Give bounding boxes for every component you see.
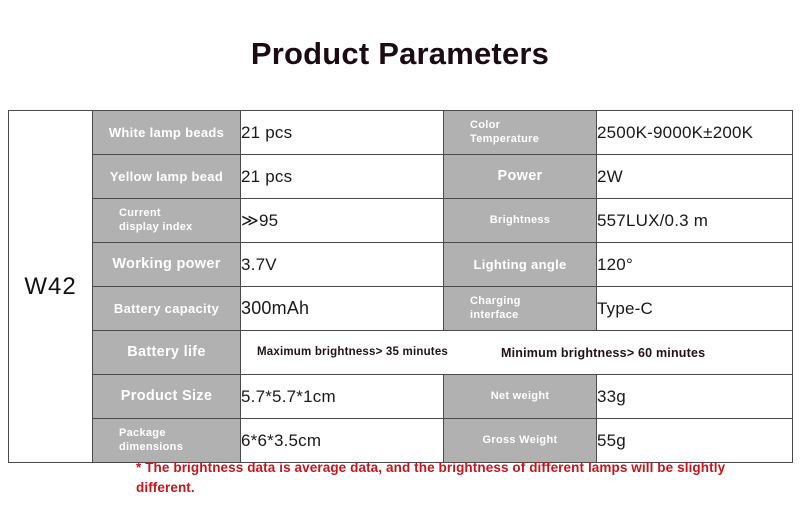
value-package-dimensions: 6*6*3.5cm (241, 419, 444, 463)
value-battery-capacity: 300mAh (241, 287, 444, 331)
label-white-lamp-beads: White lamp beads (93, 111, 241, 155)
label-package-dimensions: Packagedimensions (93, 419, 241, 463)
value-white-lamp-beads: 21 pcs (241, 111, 444, 155)
label-lighting-angle: Lighting angle (444, 243, 597, 287)
table-row: Battery capacity 300mAh Charginginterfac… (9, 287, 793, 331)
table-row: Packagedimensions 6*6*3.5cm Gross Weight… (9, 419, 793, 463)
product-parameters-table: W42 White lamp beads 21 pcs ColorTempera… (8, 110, 793, 463)
value-charging-interface: Type-C (597, 287, 793, 331)
label-brightness: Brightness (444, 199, 597, 243)
table-row: Working power 3.7V Lighting angle 120° (9, 243, 793, 287)
table-row: W42 White lamp beads 21 pcs ColorTempera… (9, 111, 793, 155)
table-row: Yellow lamp bead 21 pcs Power 2W (9, 155, 793, 199)
label-product-size: Product Size (93, 375, 241, 419)
value-working-power: 3.7V (241, 243, 444, 287)
label-working-power: Working power (93, 243, 241, 287)
value-brightness: 557LUX/0.3 m (597, 199, 793, 243)
label-power: Power (444, 155, 597, 199)
brightness-disclaimer-note: * The brightness data is average data, a… (136, 458, 736, 497)
value-yellow-lamp-bead: 21 pcs (241, 155, 444, 199)
table-row: Currentdisplay index ≫95 Brightness 557L… (9, 199, 793, 243)
value-color-temperature: 2500K-9000K±200K (597, 111, 793, 155)
value-product-size: 5.7*5.7*1cm (241, 375, 444, 419)
value-battery-life: Maximum brightness> 35 minutes Minimum b… (241, 331, 793, 375)
value-current-display-index: ≫95 (241, 199, 444, 243)
table-row: Product Size 5.7*5.7*1cm Net weight 33g (9, 375, 793, 419)
table-row: Battery life Maximum brightness> 35 minu… (9, 331, 793, 375)
value-gross-weight: 55g (597, 419, 793, 463)
label-charging-interface: Charginginterface (444, 287, 597, 331)
value-battery-life-maximum: Maximum brightness> 35 minutes (241, 345, 473, 361)
label-color-temperature: ColorTemperature (444, 111, 597, 155)
value-power: 2W (597, 155, 793, 199)
value-lighting-angle: 120° (597, 243, 793, 287)
value-net-weight: 33g (597, 375, 793, 419)
label-current-display-index: Currentdisplay index (93, 199, 241, 243)
table-body: W42 White lamp beads 21 pcs ColorTempera… (9, 111, 793, 463)
label-net-weight: Net weight (444, 375, 597, 419)
page-title: Product Parameters (0, 36, 800, 72)
label-gross-weight: Gross Weight (444, 419, 597, 463)
label-battery-capacity: Battery capacity (93, 287, 241, 331)
value-battery-life-minimum: Minimum brightness> 60 minutes (473, 346, 792, 360)
label-yellow-lamp-bead: Yellow lamp bead (93, 155, 241, 199)
model-cell: W42 (9, 111, 93, 463)
label-battery-life: Battery life (93, 331, 241, 375)
